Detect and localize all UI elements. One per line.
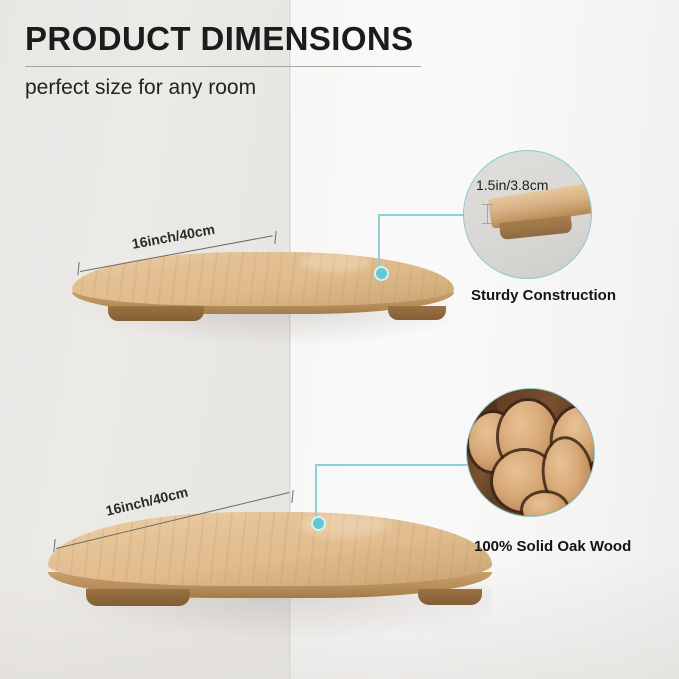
leader-anchor-dot	[311, 516, 326, 531]
lower-shelf-support-right	[418, 589, 482, 605]
callout-caption-sturdy-construction: Sturdy Construction	[471, 287, 616, 304]
upper-shelf-highlight	[300, 252, 370, 272]
leader-vertical-segment	[315, 464, 317, 522]
thickness-label: 1.5in/3.8cm	[476, 177, 548, 193]
lower-shelf-support-left	[86, 589, 190, 606]
callout-circle-solid-oak-wood	[466, 388, 595, 517]
upper-shelf-support-right	[388, 306, 446, 320]
leader-vertical-segment	[378, 214, 380, 272]
leader-horizontal-segment	[378, 214, 470, 216]
upper-shelf-support-left	[108, 306, 204, 321]
callout-circle-sturdy-construction: 1.5in/3.8cm	[463, 150, 592, 279]
leader-anchor-dot	[374, 266, 389, 281]
page-subtitle: perfect size for any room	[25, 76, 256, 100]
oak-logs-photo	[467, 389, 594, 516]
leader-horizontal-segment	[315, 464, 475, 466]
page-title: PRODUCT DIMENSIONS	[25, 20, 414, 58]
header: PRODUCT DIMENSIONS perfect size for any …	[0, 0, 679, 112]
callout-caption-solid-oak-wood: 100% Solid Oak Wood	[474, 538, 631, 555]
infographic-canvas: PRODUCT DIMENSIONS perfect size for any …	[0, 0, 679, 679]
header-divider	[25, 66, 421, 67]
thickness-marker-icon	[482, 203, 493, 225]
